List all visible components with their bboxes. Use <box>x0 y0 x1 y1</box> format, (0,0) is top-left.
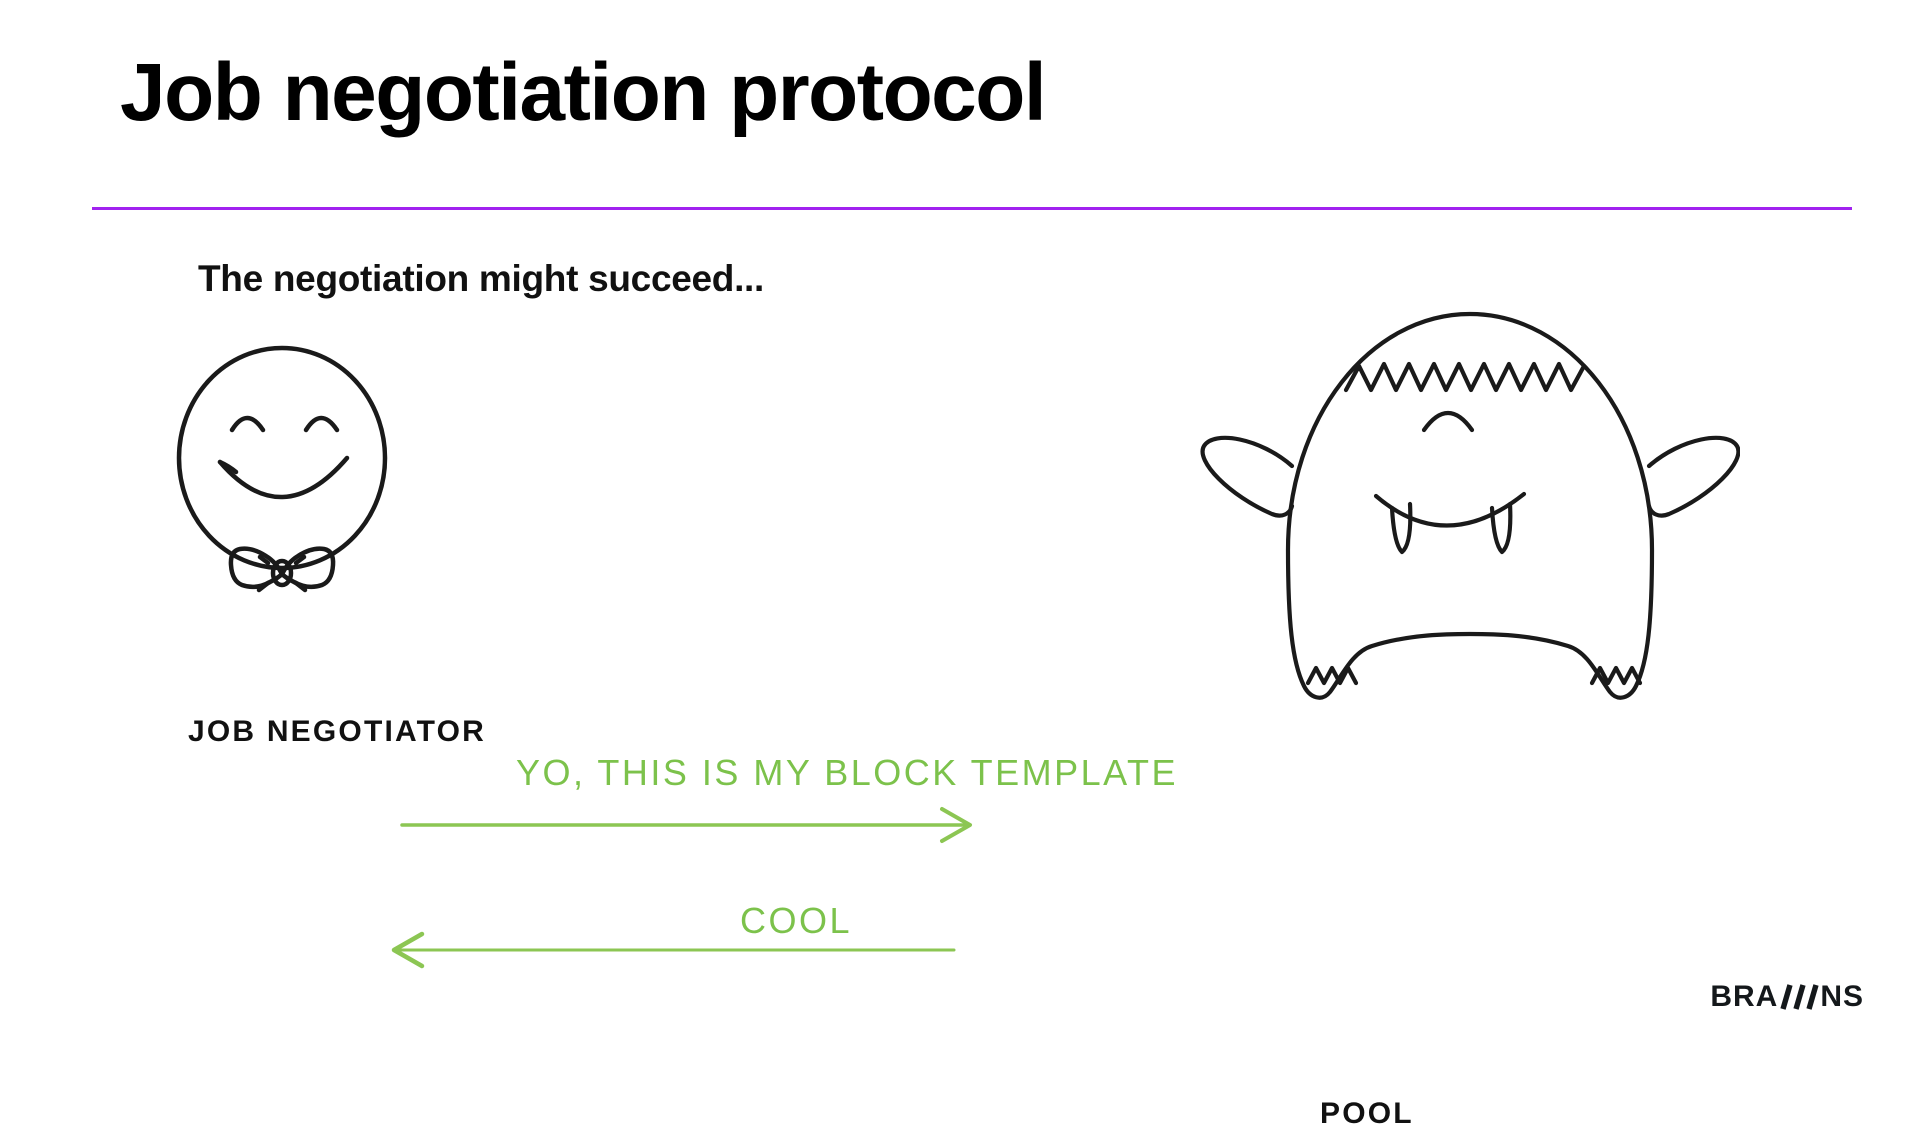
braiins-logo-prefix: BRA <box>1710 982 1778 1012</box>
arrow-left-icon <box>390 930 960 970</box>
sequence-diagram: JOB NEGOTIATOR <box>0 300 1920 900</box>
page-title: Job negotiation protocol <box>120 52 1045 134</box>
job-negotiator-character-icon <box>170 330 430 630</box>
pool-label: POOL <box>1320 1097 1414 1131</box>
arrow-right-icon <box>400 805 980 845</box>
braiins-logo: BRA NS <box>1710 982 1864 1012</box>
braiins-slashes-icon <box>1778 982 1820 1012</box>
slide-canvas: Job negotiation protocol The negotiation… <box>0 0 1920 1080</box>
title-divider <box>92 207 1852 210</box>
message-request-text: YO, THIS IS MY BLOCK TEMPLATE <box>516 752 1178 794</box>
pool-character-icon <box>1200 300 1740 720</box>
braiins-logo-suffix: NS <box>1820 982 1864 1012</box>
job-negotiator-label: JOB NEGOTIATOR <box>188 715 486 749</box>
slide-subtitle: The negotiation might succeed... <box>198 258 764 300</box>
